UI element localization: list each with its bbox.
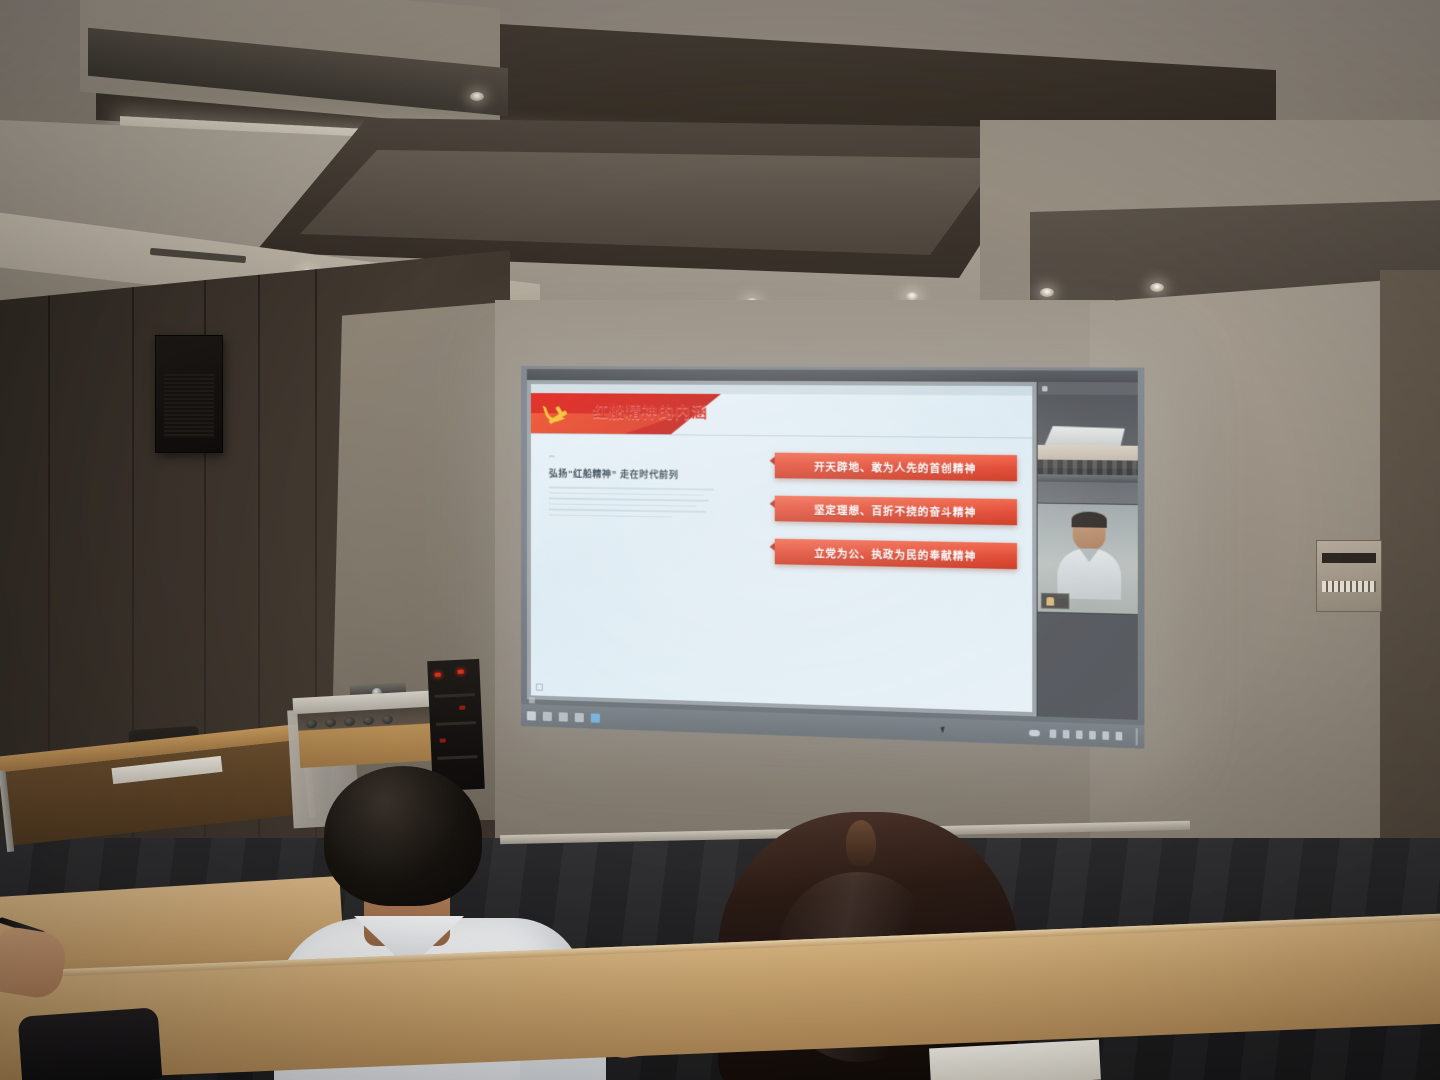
network-icon[interactable] bbox=[1076, 730, 1083, 739]
breaker-bus bbox=[1322, 553, 1376, 563]
meeting-window-body: 红船精神的内涵 弘扬“红船精神” 走在时代前列 bbox=[527, 380, 1138, 720]
video-tile-room[interactable] bbox=[1038, 395, 1138, 506]
cpc-party-emblem-icon bbox=[543, 399, 571, 427]
projection-screen: 红船精神的内涵 弘扬“红船精神” 走在时代前列 bbox=[521, 366, 1144, 749]
explorer-icon[interactable] bbox=[575, 712, 584, 721]
remote-person-hair bbox=[1072, 511, 1107, 527]
slide-point-item: 坚定理想、百折不挠的奋斗精神 bbox=[775, 496, 1017, 526]
slide-point-item: 开天辟地、敢为人先的首创精神 bbox=[775, 453, 1017, 482]
collapse-panel-icon[interactable] bbox=[1042, 386, 1047, 391]
wall-speaker bbox=[155, 335, 223, 453]
weather-widget[interactable] bbox=[1029, 730, 1043, 737]
slide-point-item: 立党为公、执政为民的奉献精神 bbox=[775, 539, 1017, 570]
article-tag bbox=[549, 455, 555, 457]
article-headline: 弘扬“红船精神” 走在时代前列 bbox=[549, 466, 721, 481]
slide-title: 红船精神的内涵 bbox=[593, 402, 708, 423]
av-status-led bbox=[440, 738, 446, 742]
slide-title-underline bbox=[531, 433, 1032, 438]
search-icon[interactable] bbox=[543, 711, 552, 720]
woman-hair-part bbox=[846, 820, 876, 866]
battery-icon[interactable] bbox=[1116, 732, 1123, 741]
slide-article-column: 弘扬“红船精神” 走在时代前列 bbox=[549, 444, 721, 522]
taskbar-spacer bbox=[607, 718, 1021, 733]
ceiling-downlight bbox=[1040, 288, 1054, 297]
ceiling-downlight bbox=[470, 92, 484, 101]
chevron-up-icon[interactable] bbox=[1050, 729, 1057, 738]
video-tile-speaker[interactable] bbox=[1038, 504, 1138, 615]
slide-title-banner: 红船精神的内涵 bbox=[531, 393, 756, 435]
man-hair bbox=[324, 766, 482, 906]
av-rack-slot bbox=[436, 721, 476, 726]
ime-icon[interactable] bbox=[1102, 731, 1109, 740]
start-icon[interactable] bbox=[527, 711, 536, 720]
av-rack-slot bbox=[437, 755, 477, 760]
article-body-lines bbox=[549, 486, 721, 518]
video-sidebar-header[interactable] bbox=[1038, 382, 1138, 395]
video-tile-badge bbox=[1041, 593, 1069, 609]
meeting-app-window[interactable]: 红船精神的内涵 弘扬“红船精神” 走在时代前列 bbox=[527, 369, 1138, 720]
system-tray[interactable] bbox=[1029, 725, 1138, 746]
video-sidebar-empty bbox=[1038, 613, 1138, 720]
av-rack-slot bbox=[435, 693, 475, 698]
microphone-icon[interactable] bbox=[1063, 730, 1070, 739]
av-status-led bbox=[435, 673, 441, 677]
window-icon bbox=[529, 697, 535, 703]
show-desktop-button[interactable] bbox=[1136, 728, 1138, 745]
av-status-led bbox=[458, 670, 464, 674]
electrical-panel[interactable] bbox=[1316, 540, 1382, 612]
conference-room-photo: 红船精神的内涵 弘扬“红船精神” 走在时代前列 bbox=[0, 0, 1440, 1080]
presentation-slide: 红船精神的内涵 弘扬“红船精神” 走在时代前列 bbox=[531, 384, 1032, 712]
shared-content-area[interactable]: 红船精神的内涵 弘扬“红船精神” 走在时代前列 bbox=[527, 380, 1037, 716]
breaker-switches[interactable] bbox=[1322, 581, 1376, 592]
chair-foreground bbox=[18, 1007, 163, 1080]
taskbar-window-label bbox=[529, 697, 538, 703]
task-view-icon[interactable] bbox=[559, 712, 568, 721]
slide-point-text: 立党为公、执政为民的奉献精神 bbox=[814, 544, 976, 563]
av-status-led bbox=[459, 706, 465, 710]
video-participants-sidebar[interactable] bbox=[1037, 382, 1138, 720]
browser-icon[interactable] bbox=[591, 713, 600, 722]
slide-corner-mark bbox=[536, 683, 543, 690]
cloud-icon bbox=[1029, 730, 1040, 737]
article-byline bbox=[549, 482, 721, 484]
slide-point-text: 开天辟地、敢为人先的首创精神 bbox=[814, 458, 976, 475]
slide-points-list: 开天辟地、敢为人先的首创精神 坚定理想、百折不挠的奋斗精神 立党为公、执政为民的… bbox=[775, 453, 1017, 570]
wall-far-right-column bbox=[1380, 270, 1440, 890]
speaker-grille bbox=[164, 374, 214, 438]
remote-room-desk bbox=[1038, 474, 1138, 483]
slide-point-text: 坚定理想、百折不挠的奋斗精神 bbox=[814, 501, 976, 519]
ceiling-downlight bbox=[1150, 283, 1164, 292]
volume-icon[interactable] bbox=[1089, 731, 1096, 740]
